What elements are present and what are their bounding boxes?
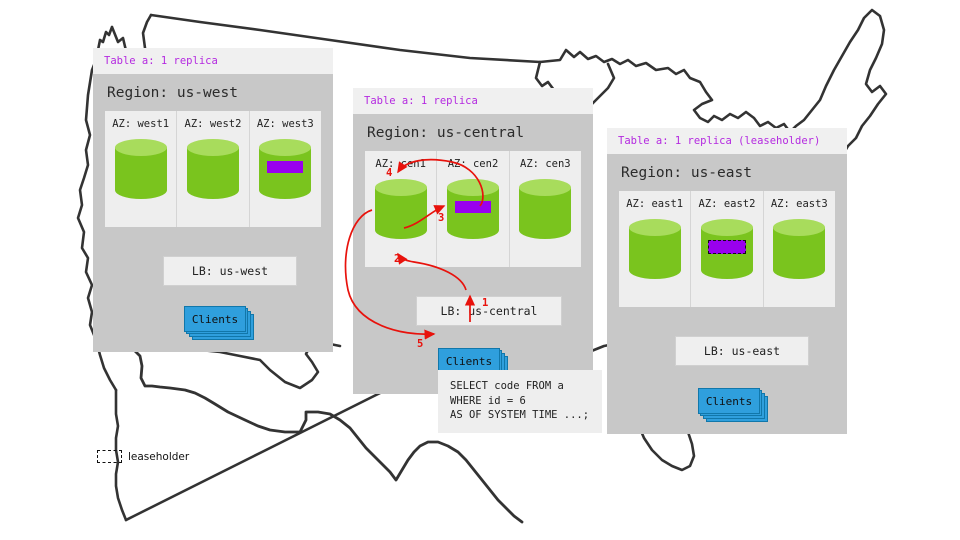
clients-us-east[interactable]: Clients [698, 388, 758, 412]
az-label-cen1: AZ: cen1 [375, 158, 426, 170]
az-east1[interactable]: AZ: east1 [619, 191, 691, 307]
region-title-us-central: Region: us-central [353, 114, 593, 151]
az-label-west2: AZ: west2 [185, 118, 242, 130]
cylinder-top [701, 219, 753, 236]
region-header-us-east: Table a: 1 replica (leaseholder) [607, 128, 847, 154]
legend: leaseholder [97, 450, 189, 463]
az-cen1[interactable]: AZ: cen1 [365, 151, 437, 267]
flow-step-label-2: 2 [394, 253, 400, 265]
node-cylinder-west2[interactable] [187, 139, 239, 203]
region-panel-us-central: Table a: 1 replica Region: us-central AZ… [353, 88, 593, 394]
flow-step-label-5: 5 [417, 338, 423, 350]
az-label-west1: AZ: west1 [112, 118, 169, 130]
az-label-west3: AZ: west3 [257, 118, 314, 130]
region-body-us-west: Region: us-west AZ: west1 AZ: west2 [93, 74, 333, 352]
flow-step-label-1: 1 [482, 297, 488, 309]
clients-us-west[interactable]: Clients [184, 306, 244, 330]
az-row-us-central: AZ: cen1 AZ: cen2 AZ: cen3 [365, 151, 581, 267]
replica-marker-cen2 [455, 201, 491, 213]
region-panel-us-west: Table a: 1 replica Region: us-west AZ: w… [93, 48, 333, 352]
cylinder-top [519, 179, 571, 196]
az-cen3[interactable]: AZ: cen3 [510, 151, 581, 267]
az-label-east1: AZ: east1 [626, 198, 683, 210]
region-header-us-west: Table a: 1 replica [93, 48, 333, 74]
az-west2[interactable]: AZ: west2 [177, 111, 249, 227]
node-cylinder-cen1[interactable] [375, 179, 427, 243]
az-cen2[interactable]: AZ: cen2 [437, 151, 509, 267]
flow-step-label-4: 4 [386, 167, 392, 179]
region-body-us-central: Region: us-central AZ: cen1 AZ: cen2 [353, 114, 593, 394]
replica-marker-east2-leaseholder [708, 240, 746, 254]
node-cylinder-west1[interactable] [115, 139, 167, 203]
az-row-us-east: AZ: east1 AZ: east2 AZ: east3 [619, 191, 835, 307]
region-title-us-east: Region: us-east [607, 154, 847, 191]
az-west3[interactable]: AZ: west3 [250, 111, 321, 227]
cylinder-top [375, 179, 427, 196]
cylinder-top [115, 139, 167, 156]
clients-label-us-west: Clients [184, 306, 246, 332]
replica-marker-west3 [267, 161, 303, 173]
load-balancer-us-east[interactable]: LB: us-east [675, 336, 809, 366]
node-cylinder-west3[interactable] [259, 139, 311, 203]
cylinder-top [447, 179, 499, 196]
node-cylinder-cen2[interactable] [447, 179, 499, 243]
load-balancer-us-west[interactable]: LB: us-west [163, 256, 297, 286]
az-label-cen2: AZ: cen2 [448, 158, 499, 170]
cylinder-top [773, 219, 825, 236]
sql-query-note: SELECT code FROM a WHERE id = 6 AS OF SY… [438, 370, 602, 433]
legend-label-leaseholder: leaseholder [128, 451, 189, 463]
region-panel-us-east: Table a: 1 replica (leaseholder) Region:… [607, 128, 847, 434]
flow-step-label-3: 3 [438, 212, 444, 224]
clients-us-central[interactable]: Clients [438, 348, 498, 372]
cylinder-top [187, 139, 239, 156]
region-title-us-west: Region: us-west [93, 74, 333, 111]
load-balancer-us-central[interactable]: LB: us-central [416, 296, 562, 326]
cylinder-top [629, 219, 681, 236]
region-header-us-central: Table a: 1 replica [353, 88, 593, 114]
az-label-east3: AZ: east3 [771, 198, 828, 210]
az-east2[interactable]: AZ: east2 [691, 191, 763, 307]
cylinder-top [259, 139, 311, 156]
az-row-us-west: AZ: west1 AZ: west2 AZ: west3 [105, 111, 321, 227]
az-west1[interactable]: AZ: west1 [105, 111, 177, 227]
node-cylinder-east2[interactable] [701, 219, 753, 283]
leaseholder-swatch-icon [97, 450, 122, 463]
clients-label-us-east: Clients [698, 388, 760, 414]
node-cylinder-east1[interactable] [629, 219, 681, 283]
az-label-cen3: AZ: cen3 [520, 158, 571, 170]
az-east3[interactable]: AZ: east3 [764, 191, 835, 307]
node-cylinder-east3[interactable] [773, 219, 825, 283]
region-body-us-east: Region: us-east AZ: east1 AZ: east2 [607, 154, 847, 434]
node-cylinder-cen3[interactable] [519, 179, 571, 243]
az-label-east2: AZ: east2 [699, 198, 756, 210]
diagram-canvas: Table a: 1 replica Region: us-west AZ: w… [0, 0, 960, 540]
